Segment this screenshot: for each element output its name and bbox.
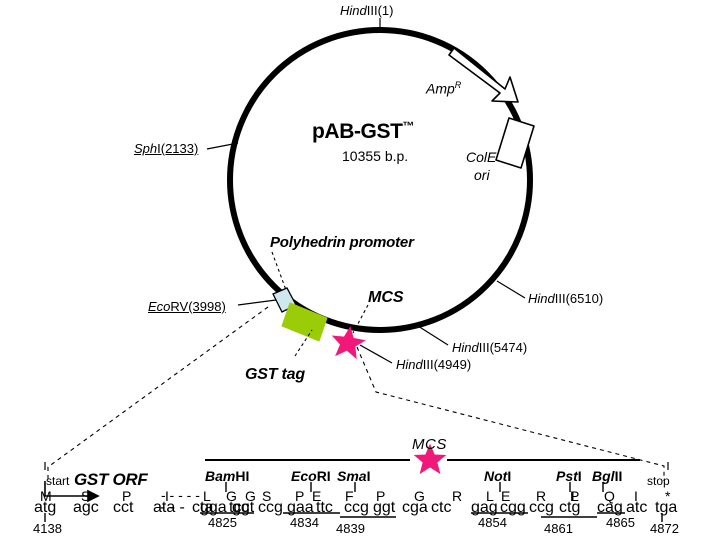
- position-4834: 4834: [290, 515, 319, 530]
- expansion-lines: [48, 307, 664, 481]
- site-label-hindiii-5474: HindIII(5474): [452, 341, 527, 354]
- start-label: start: [46, 474, 69, 488]
- site-enzyme-rest: III(4949): [423, 357, 471, 372]
- enzyme-rest: II: [615, 468, 623, 484]
- plasmid-size: 10355 b.p.: [342, 149, 408, 163]
- plasmid-name: pAB-GST: [312, 120, 403, 143]
- site-enzyme-rest: III(5474): [479, 340, 527, 355]
- feature-label-colei: ColE: [466, 150, 496, 164]
- enzyme-rest: I: [578, 468, 582, 484]
- enzyme-italic: Bgl: [592, 468, 615, 484]
- site-enzyme-italic: Hind: [452, 340, 479, 355]
- codon-22: tga: [655, 499, 677, 517]
- codon-3: cct: [113, 499, 133, 517]
- site-label-ecorv-3998: EcoRV(3998): [148, 300, 226, 313]
- enzyme-label-noti: NotI: [484, 468, 511, 484]
- position-4865: 4865: [606, 515, 635, 530]
- site-enzyme-rest: III(1): [367, 3, 394, 18]
- site-enzyme-rest: III(6510): [555, 291, 603, 306]
- position-4839: 4839: [336, 521, 365, 536]
- codon-19: ctg: [559, 499, 580, 517]
- site-label-hindiii-1: HindIII(1): [340, 4, 393, 17]
- plasmid-map-svg: [0, 0, 720, 540]
- enzyme-label-bglii: BglII: [592, 468, 622, 484]
- stop-label: stop: [647, 474, 670, 488]
- codon-15: ctc: [431, 499, 451, 517]
- plasmid-map-figure: HindIII(1) SphI(2133) EcoRV(3998) HindII…: [0, 0, 720, 540]
- position-4872: 4872: [650, 521, 679, 536]
- position-4825: 4825: [208, 515, 237, 530]
- codon-9: ccg: [258, 499, 283, 517]
- feature-label-ori: ori: [474, 168, 490, 182]
- position-4138: 4138: [33, 521, 62, 536]
- enzyme-label-smai: SmaI: [337, 468, 370, 484]
- enzyme-label-psti: PstI: [556, 468, 582, 484]
- enzyme-rest: HI: [235, 468, 249, 484]
- detail-orf-title: GST ORF: [74, 470, 147, 490]
- trademark-icon: ™: [403, 119, 415, 133]
- codon-1: atg: [34, 499, 56, 517]
- expansion-line-left: [48, 307, 268, 481]
- enzyme-italic: Sma: [337, 468, 367, 484]
- codon-13: ggt: [373, 499, 395, 517]
- position-4854: 4854: [478, 515, 507, 530]
- codon-12: ccg: [344, 499, 369, 517]
- position-4861: 4861: [544, 521, 573, 536]
- enzyme-rest: RI: [317, 468, 331, 484]
- ampr-superscript: R: [455, 80, 462, 90]
- aa-14: R: [452, 488, 462, 504]
- site-enzyme-italic: Sph: [134, 141, 157, 156]
- enzyme-italic: Not: [484, 468, 507, 484]
- feature-label-polyhedrin-promoter: Polyhedrin promoter: [270, 235, 414, 250]
- site-enzyme-italic: Hind: [528, 291, 555, 306]
- detail-mcs-title: MCS: [412, 436, 447, 453]
- site-enzyme-italic: Eco: [148, 299, 170, 314]
- site-enzyme-rest: I(2133): [157, 141, 198, 156]
- enzyme-rest: I: [367, 468, 371, 484]
- enzyme-italic: Bam: [205, 468, 235, 484]
- page-title: pAB-GST™: [312, 120, 414, 142]
- leader-ecorv-3998: [238, 300, 276, 305]
- enzyme-label-bamhi: BamHI: [205, 468, 249, 484]
- codon-14: cga: [402, 499, 428, 517]
- codon-2: agc: [73, 499, 99, 517]
- enzyme-rest: I: [507, 468, 511, 484]
- enzyme-italic: Eco: [291, 468, 317, 484]
- enzyme-italic: Pst: [556, 468, 578, 484]
- leader-hindiii-4949: [360, 345, 392, 363]
- enzyme-label-ecori: EcoRI: [291, 468, 331, 484]
- gst-tag-shape: [282, 303, 327, 341]
- feature-label-gst-tag: GST tag: [245, 367, 305, 383]
- orf-dashes-visible: - - - - -: [161, 487, 200, 503]
- codon-18: ccg: [529, 499, 554, 517]
- feature-label-mcs: MCS: [368, 290, 404, 306]
- site-label-hindiii-4949: HindIII(4949): [396, 358, 471, 371]
- site-enzyme-italic: Hind: [340, 3, 367, 18]
- feature-label-ampr: AmpR: [426, 81, 461, 96]
- site-label-sphi-2133: SphI(2133): [134, 142, 198, 155]
- ampr-text: Amp: [426, 81, 455, 97]
- site-label-hindiii-6510: HindIII(6510): [528, 292, 603, 305]
- site-enzyme-italic: Hind: [396, 357, 423, 372]
- leader-hindiii-5474: [418, 326, 448, 345]
- leader-hindiii-6510: [497, 281, 525, 298]
- site-enzyme-rest: RV(3998): [170, 299, 225, 314]
